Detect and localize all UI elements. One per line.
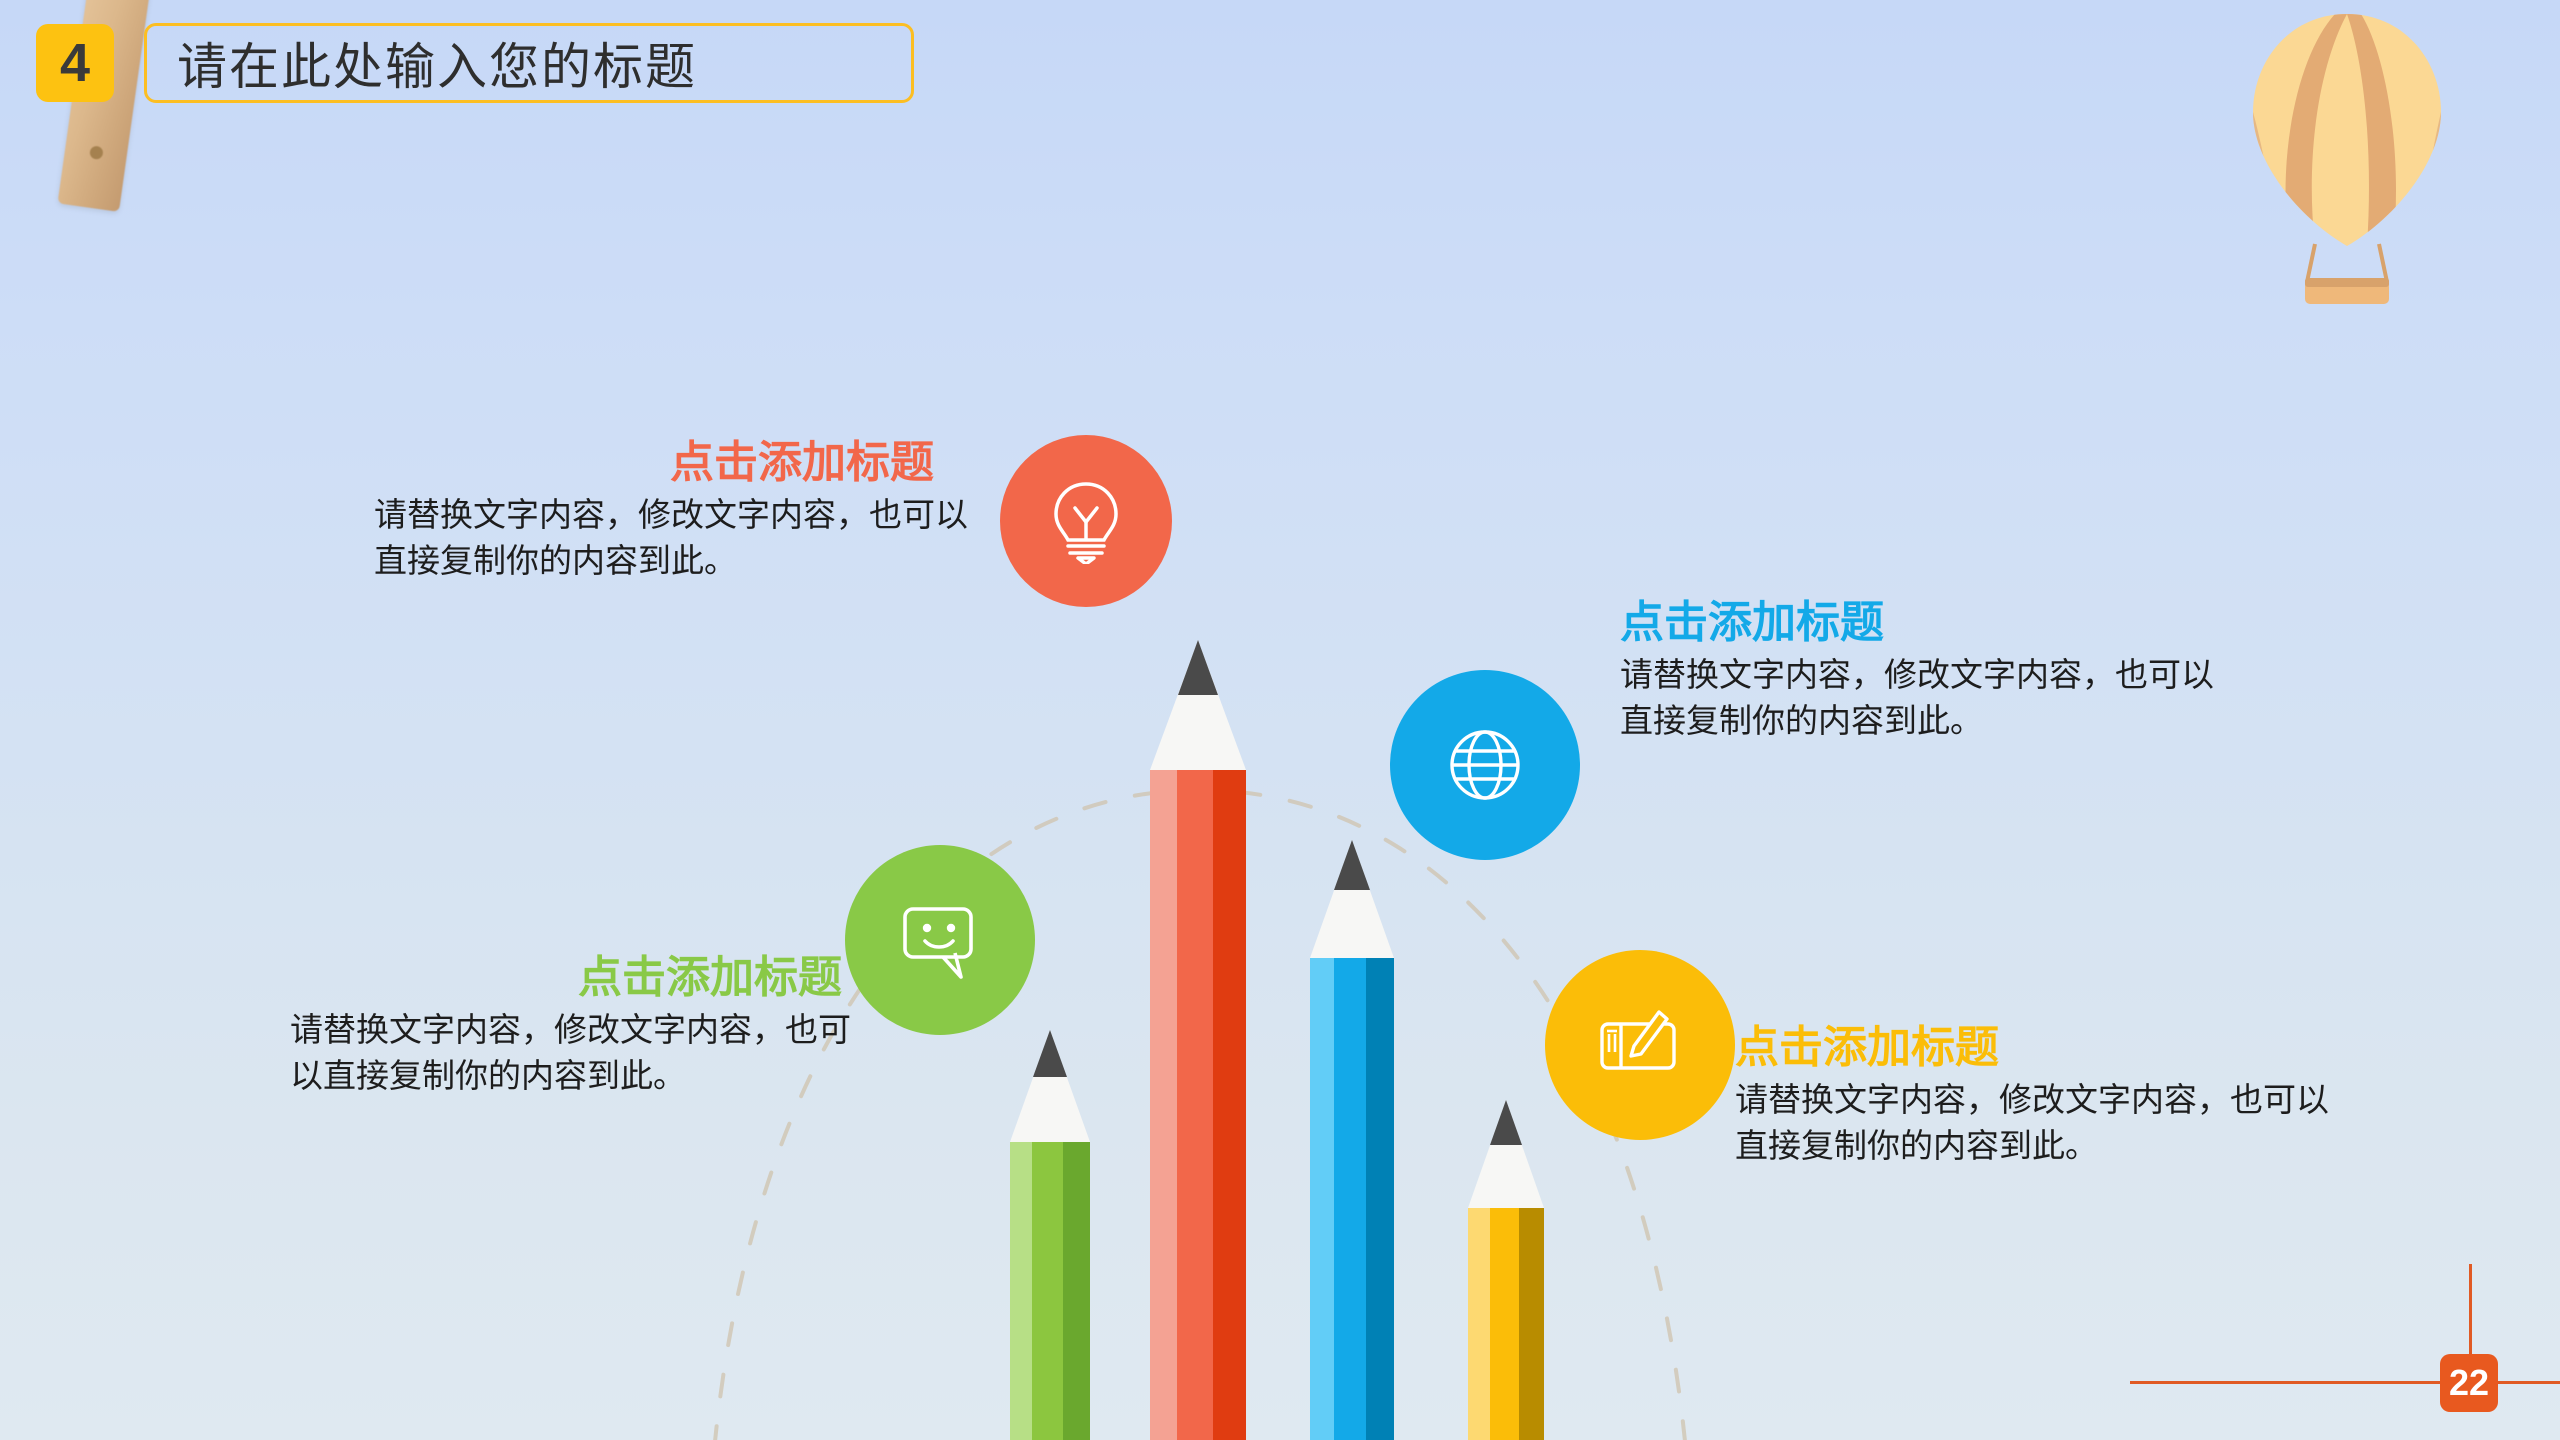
notepad-pen-icon-circle[interactable] [1545, 950, 1735, 1140]
pencil-red-tip [1150, 640, 1246, 770]
pencil-blue [1310, 840, 1394, 1440]
pencil-blue-lead [1334, 840, 1370, 890]
page-number-text: 22 [2449, 1362, 2489, 1404]
section-number-badge: 4 [36, 24, 114, 102]
ruler-hole [89, 145, 104, 160]
pencil-blue-tip [1310, 840, 1394, 958]
page-title: 请在此处输入您的标题 [177, 27, 697, 99]
pencil-red-lead [1178, 640, 1218, 695]
slide-title-box[interactable]: 请在此处输入您的标题 [144, 23, 914, 103]
pencil-green-lead [1033, 1030, 1067, 1077]
slide-canvas: 4 请在此处输入您的标题 [0, 0, 2560, 1440]
chat-smiley-icon [899, 899, 981, 981]
content-body-blue: 请替换文字内容，修改文字内容，也可以直接复制你的内容到此。 [1620, 654, 2220, 745]
content-body-red: 请替换文字内容，修改文字内容，也可以直接复制你的内容到此。 [374, 494, 970, 585]
content-heading-blue: 点击添加标题 [1620, 600, 2260, 646]
pencil-green-tip [1010, 1030, 1090, 1142]
pencil-red-body [1150, 770, 1246, 1440]
section-number-text: 4 [60, 36, 90, 90]
content-heading-yellow: 点击添加标题 [1735, 1025, 2375, 1071]
pencil-green [1010, 1030, 1090, 1440]
content-block-green: 点击添加标题 请替换文字内容，修改文字内容，也可以直接复制你的内容到此。 [250, 955, 890, 1100]
hot-air-balloon-icon [2245, 6, 2450, 306]
globe-icon [1446, 726, 1524, 804]
pencil-yellow-tip [1468, 1100, 1544, 1208]
pencil-blue-body [1310, 958, 1394, 1440]
notepad-pen-icon [1597, 1010, 1683, 1080]
content-body-yellow: 请替换文字内容，修改文字内容，也可以直接复制你的内容到此。 [1735, 1079, 2333, 1170]
page-number-badge: 22 [2440, 1354, 2498, 1412]
content-block-blue: 点击添加标题 请替换文字内容，修改文字内容，也可以直接复制你的内容到此。 [1620, 600, 2260, 745]
pencil-yellow-body [1468, 1208, 1544, 1440]
lightbulb-icon-circle[interactable] [1000, 435, 1172, 607]
content-body-green: 请替换文字内容，修改文字内容，也可以直接复制你的内容到此。 [290, 1009, 880, 1100]
slide-header: 4 请在此处输入您的标题 [0, 22, 914, 104]
globe-icon-circle[interactable] [1390, 670, 1580, 860]
lightbulb-icon [1048, 478, 1124, 564]
content-heading-red: 点击添加标题 [340, 440, 980, 486]
pencil-yellow-lead [1490, 1100, 1522, 1145]
pencil-red [1150, 640, 1246, 1440]
pencil-green-body [1010, 1142, 1090, 1440]
pencil-yellow [1468, 1100, 1544, 1440]
content-heading-green: 点击添加标题 [250, 955, 890, 1001]
content-block-yellow: 点击添加标题 请替换文字内容，修改文字内容，也可以直接复制你的内容到此。 [1735, 1025, 2375, 1170]
content-block-red: 点击添加标题 请替换文字内容，修改文字内容，也可以直接复制你的内容到此。 [340, 440, 980, 585]
